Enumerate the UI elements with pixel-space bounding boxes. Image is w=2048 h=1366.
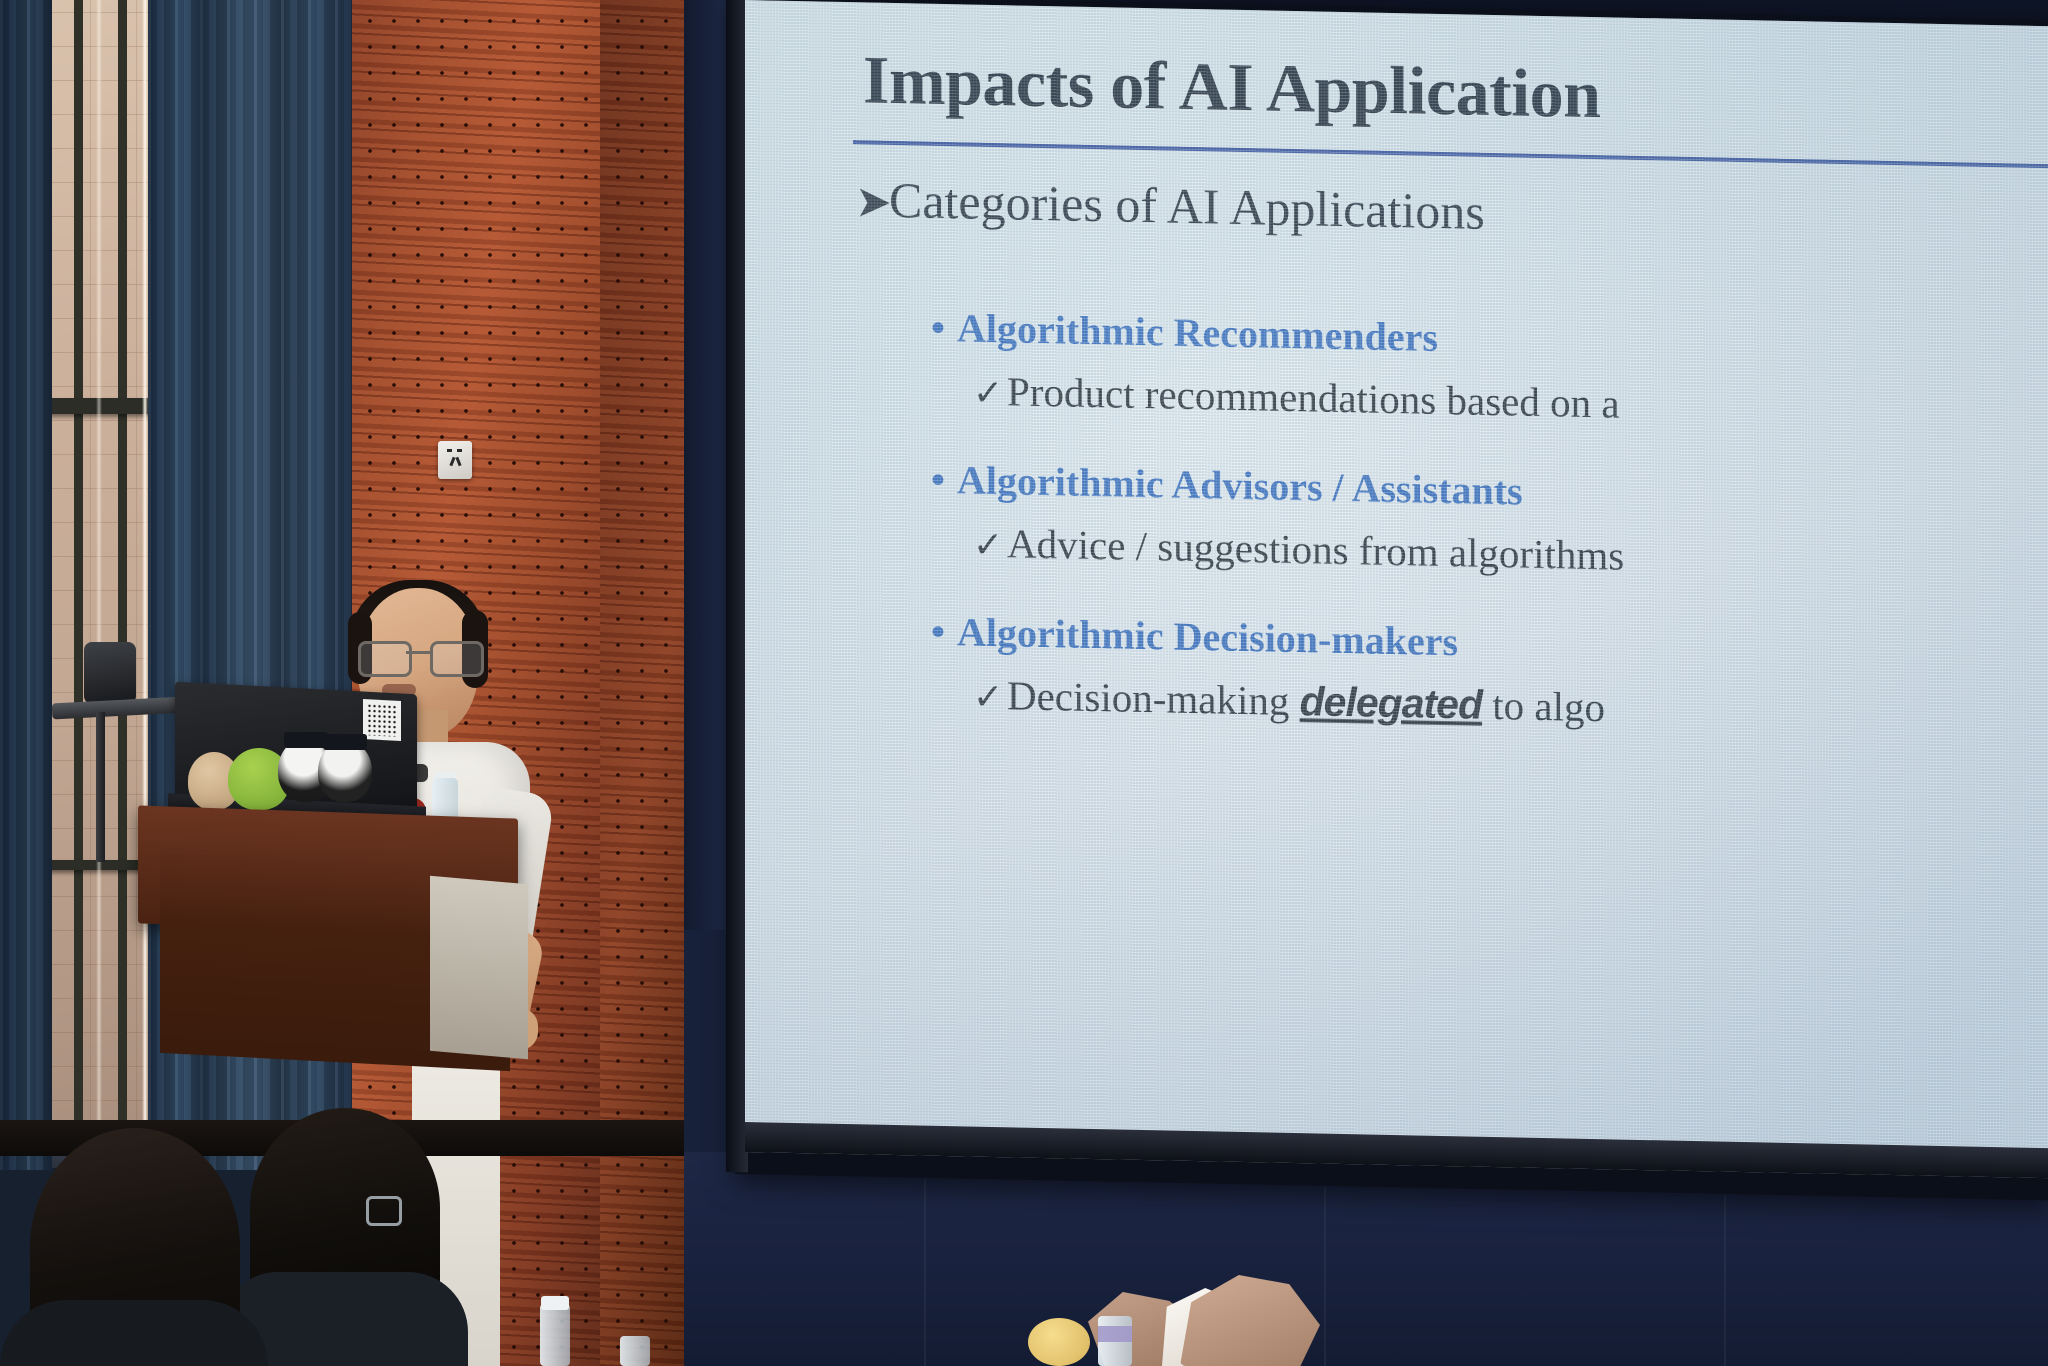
camera-stand-pole: [96, 712, 105, 862]
speaker-glasses: [356, 655, 484, 657]
slide-bullet-advisors-text: Algorithmic Advisors / Assistants: [957, 457, 1523, 513]
slide-sub-advisors: ✓Advice / suggestions from algorithms: [973, 519, 1624, 580]
conference-photo-scene: Impacts of AI Application ➤Categories of…: [0, 0, 2048, 1366]
power-outlet: [438, 441, 472, 479]
foreground-water-bottle: [620, 1336, 650, 1366]
glasses-bridge: [406, 651, 430, 654]
slide-bullet-level1-text: Categories of AI Applications: [889, 172, 1485, 240]
podium-side-panel: [430, 876, 528, 1060]
dot-bullet-icon: •: [931, 608, 957, 656]
laptop-qr-sticker: [363, 699, 401, 741]
audience-member-1-body: [0, 1300, 268, 1366]
presentation-screen: Impacts of AI Application ➤Categories of…: [745, 0, 2048, 1178]
window-glare: [96, 0, 102, 1135]
slide-sub-decision-before: Decision-making: [1007, 672, 1300, 724]
slide-sub-recommenders: ✓Product recommendations based on a: [973, 367, 1620, 428]
audience-glasses: [366, 1196, 402, 1226]
foreground-water-bottle: [540, 1304, 570, 1366]
glasses-lens-left: [358, 641, 412, 677]
slide-sub-decision-after: to algo: [1482, 682, 1605, 730]
glasses-lens-right: [430, 641, 484, 677]
check-bullet-icon: ✓: [973, 676, 1007, 719]
bouquet-area-bottle-label: [1098, 1326, 1132, 1342]
slide-sub-advisors-text: Advice / suggestions from algorithms: [1007, 520, 1624, 578]
slide-sub-decision-makers: ✓Decision-making delegated to algo: [973, 671, 1605, 732]
slide-title-rule: [853, 140, 2048, 169]
check-bullet-icon: ✓: [973, 524, 1007, 567]
plush-graduation-cap: [284, 732, 328, 748]
slide-bullet-level1: ➤Categories of AI Applications: [855, 170, 1485, 241]
check-bullet-icon: ✓: [973, 372, 1007, 415]
bouquet-yellow-flower: [1028, 1318, 1090, 1366]
slide-bullet-recommenders: •Algorithmic Recommenders: [931, 304, 1438, 361]
slide-sub-recommenders-text: Product recommendations based on a: [1007, 368, 1620, 426]
triangle-bullet-icon: ➤: [855, 176, 889, 228]
slide-bullet-decision-makers-text: Algorithmic Decision-makers: [957, 609, 1458, 664]
slide-bullet-recommenders-text: Algorithmic Recommenders: [957, 305, 1438, 360]
plush-graduation-cap: [323, 734, 367, 750]
slide-content: Impacts of AI Application ➤Categories of…: [745, 0, 2048, 1178]
window-mullion-vertical: [118, 0, 127, 1135]
window-mullion-vertical: [74, 0, 83, 1135]
foreground-water-bottle-cap: [541, 1296, 569, 1310]
camera-body: [84, 642, 136, 704]
slide-bullet-advisors: •Algorithmic Advisors / Assistants: [931, 456, 1523, 515]
slide-title: Impacts of AI Application: [863, 40, 1601, 134]
dot-bullet-icon: •: [931, 456, 957, 504]
perforated-wood-panel-right: [600, 0, 692, 1366]
curtain-left-edge: [0, 0, 52, 1170]
plush-toy-panda-2: [318, 740, 372, 802]
dot-bullet-icon: •: [931, 304, 957, 352]
slide-bullet-decision-makers: •Algorithmic Decision-makers: [931, 608, 1458, 666]
slide-sub-decision-emphasis: delegated: [1300, 678, 1482, 728]
